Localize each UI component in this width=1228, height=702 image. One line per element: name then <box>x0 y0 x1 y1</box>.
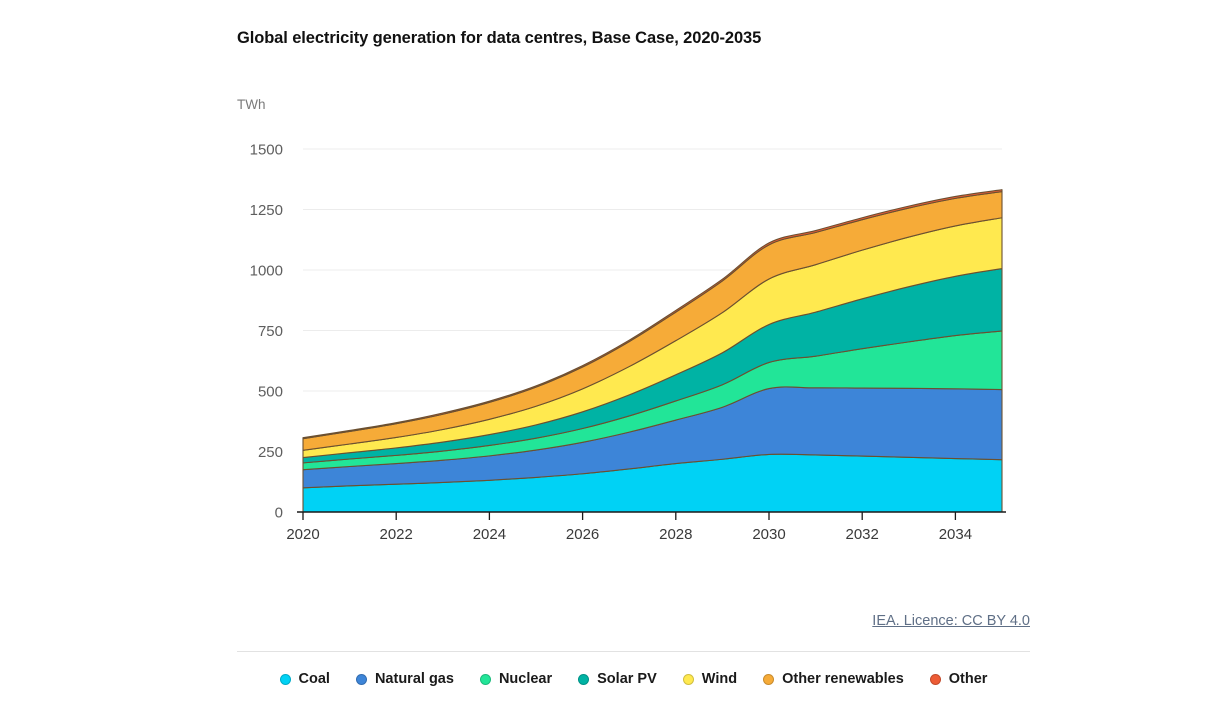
legend-swatch-icon <box>683 674 694 685</box>
y-axis-tick-label: 250 <box>258 444 283 461</box>
iea-licence-link[interactable]: IEA. Licence: CC BY 4.0 <box>872 613 1030 629</box>
chart-card: Global electricity generation for data c… <box>0 0 1228 702</box>
legend-item-label: Natural gas <box>375 671 454 687</box>
legend-item-label: Coal <box>299 671 330 687</box>
x-axis-tick-label: 2020 <box>286 526 319 543</box>
legend-swatch-icon <box>356 674 367 685</box>
chart-plot-area: TWh0250500750100012501500202020222024202… <box>0 75 1228 565</box>
licence-row: IEA. Licence: CC BY 4.0 <box>237 612 1030 630</box>
page-title: Global electricity generation for data c… <box>237 29 761 48</box>
legend-swatch-icon <box>578 674 589 685</box>
y-axis-tick-label: 1000 <box>250 263 283 280</box>
x-axis-tick-label: 2032 <box>846 526 879 543</box>
x-axis-tick-label: 2028 <box>659 526 692 543</box>
x-axis-tick-label: 2022 <box>380 526 413 543</box>
y-axis-tick-label: 750 <box>258 323 283 340</box>
x-axis-tick-label: 2034 <box>939 526 972 543</box>
x-axis-tick-label: 2026 <box>566 526 599 543</box>
legend-item-other-renewables[interactable]: Other renewables <box>763 671 904 687</box>
legend-item-label: Other renewables <box>782 671 904 687</box>
legend-item-nuclear[interactable]: Nuclear <box>480 671 552 687</box>
y-axis-tick-label: 1250 <box>250 202 283 219</box>
legend-swatch-icon <box>930 674 941 685</box>
legend-swatch-icon <box>480 674 491 685</box>
legend-item-label: Other <box>949 671 988 687</box>
legend-item-wind[interactable]: Wind <box>683 671 737 687</box>
y-axis-tick-label: 0 <box>275 505 283 522</box>
legend-item-natural-gas[interactable]: Natural gas <box>356 671 454 687</box>
y-axis-tick-label: 500 <box>258 384 283 401</box>
stacked-area-chart: TWh0250500750100012501500202020222024202… <box>0 75 1228 565</box>
x-axis-tick-label: 2030 <box>752 526 785 543</box>
legend-item-label: Solar PV <box>597 671 657 687</box>
y-axis-unit-label: TWh <box>237 97 266 112</box>
chart-legend: CoalNatural gasNuclearSolar PVWindOther … <box>237 671 1030 687</box>
legend-item-coal[interactable]: Coal <box>280 671 330 687</box>
legend-item-label: Nuclear <box>499 671 552 687</box>
y-axis-tick-label: 1500 <box>250 142 283 159</box>
legend-item-solar-pv[interactable]: Solar PV <box>578 671 657 687</box>
legend-swatch-icon <box>763 674 774 685</box>
legend-swatch-icon <box>280 674 291 685</box>
legend-divider <box>237 651 1030 652</box>
legend-item-other[interactable]: Other <box>930 671 988 687</box>
legend-item-label: Wind <box>702 671 737 687</box>
x-axis-tick-label: 2024 <box>473 526 506 543</box>
